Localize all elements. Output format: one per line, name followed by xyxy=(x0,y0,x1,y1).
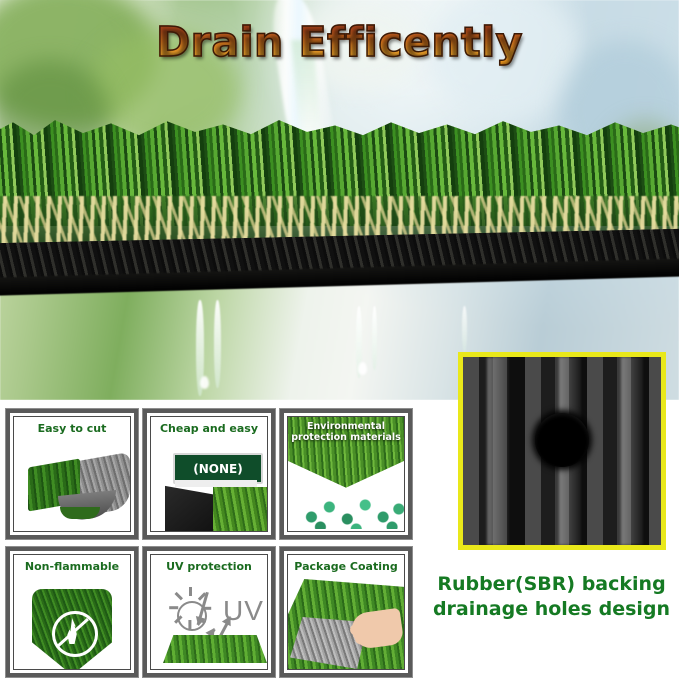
panel-inner: Non-flammable xyxy=(13,554,131,670)
feature-label: Easy to cut xyxy=(14,422,130,435)
panel-inner: Package Coating xyxy=(287,554,405,670)
water-droplet-1 xyxy=(200,376,209,389)
turf-surface xyxy=(163,635,267,663)
sun-ray-7 xyxy=(169,607,178,610)
sun-ray-5 xyxy=(189,620,192,629)
feature-label: Non-flammable xyxy=(14,560,130,573)
water-droplet-2 xyxy=(358,362,367,375)
panel-inner: Cheap and easy (NONE) xyxy=(150,416,268,532)
turf-cross-section xyxy=(0,118,679,303)
feature-panel-environmental: Environmental protection materials xyxy=(280,409,412,539)
feature-panel-uv-protection: UV protection UV xyxy=(143,547,275,677)
sign-post xyxy=(175,480,257,487)
caption-line-1: Rubber(SBR) backing xyxy=(424,572,679,597)
feature-panel-cheap-and-easy: Cheap and easy (NONE) xyxy=(143,409,275,539)
hero-photo: Drain Efficently xyxy=(0,0,679,400)
water-drip-4 xyxy=(372,306,377,370)
water-drip-5 xyxy=(462,306,467,352)
caption-line-2: drainage holes design xyxy=(424,597,679,622)
rubber-streak-1 xyxy=(487,357,509,545)
green-pellets-illustration xyxy=(298,489,405,529)
rubber-backing-inset xyxy=(458,352,666,550)
feature-label: Package Coating xyxy=(288,560,404,573)
water-drip-2 xyxy=(214,300,221,388)
feature-grid: Easy to cut Cheap and easy (NONE) xyxy=(6,409,416,677)
feature-panel-non-flammable: Non-flammable xyxy=(6,547,138,677)
feature-label: UV protection xyxy=(151,560,267,573)
green-turf-mat xyxy=(213,487,268,532)
drainage-hole xyxy=(535,413,589,467)
sun-ray-1 xyxy=(189,587,192,596)
panel-inner: UV protection UV xyxy=(150,554,268,670)
feature-label: Cheap and easy xyxy=(151,422,267,435)
rubber-streak-3 xyxy=(621,357,643,545)
page-title: Drain Efficently xyxy=(0,18,679,66)
turf-roll-curl-inner xyxy=(60,507,100,519)
feature-panel-easy-to-cut: Easy to cut xyxy=(6,409,138,539)
panel-inner: Environmental protection materials xyxy=(287,416,405,532)
shield-icon xyxy=(32,589,112,670)
panel-inner: Easy to cut xyxy=(13,416,131,532)
feature-label: Environmental protection materials xyxy=(288,421,404,443)
product-feature-image: Drain Efficently Rubber(SBR) backing dra… xyxy=(0,0,679,679)
inset-caption: Rubber(SBR) backing drainage holes desig… xyxy=(424,572,679,622)
feature-panel-package-coating: Package Coating xyxy=(280,547,412,677)
rolled-turf-illustration xyxy=(28,457,128,517)
sun-ray-8 xyxy=(175,592,183,600)
